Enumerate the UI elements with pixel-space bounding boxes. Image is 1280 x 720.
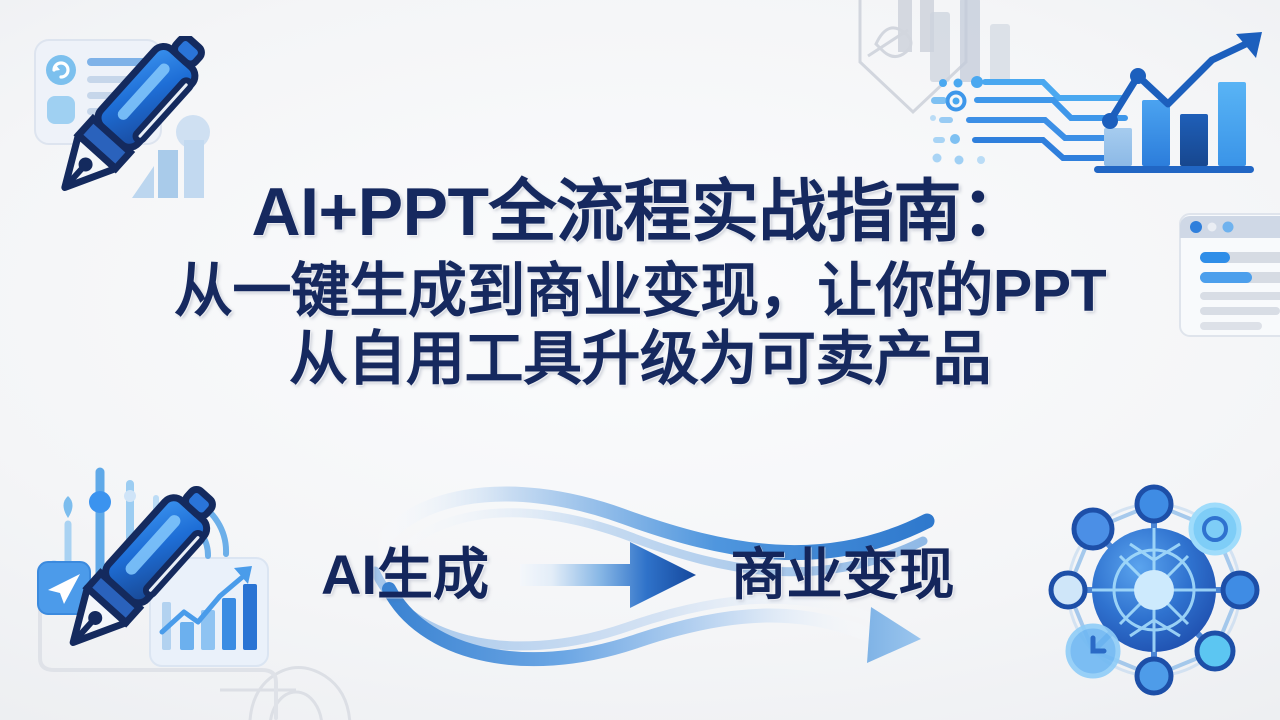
flow-to-label-wrap: 商业变现 xyxy=(703,547,983,603)
flow-to-label: 商业变现 xyxy=(731,543,955,606)
flow-from-label: AI生成 xyxy=(321,543,489,606)
slide-canvas: AI+PPT全流程实战指南： 从一键生成到商业变现，让你的PPT 从自用工具升级… xyxy=(0,0,1280,720)
title-line-3: 从自用工具升级为可卖产品 xyxy=(0,330,1280,389)
flow-row: AI生成 商业变现 xyxy=(0,520,1280,630)
title-block: AI+PPT全流程实战指南： 从一键生成到商业变现，让你的PPT 从自用工具升级… xyxy=(0,178,1280,389)
right-arrow-icon xyxy=(518,538,698,612)
title-line-2: 从一键生成到商业变现，让你的PPT xyxy=(0,262,1280,321)
flow-arrow-wrap xyxy=(513,530,703,620)
flow-from-label-wrap: AI生成 xyxy=(298,547,513,603)
title-line-1: AI+PPT全流程实战指南： xyxy=(0,178,1280,246)
